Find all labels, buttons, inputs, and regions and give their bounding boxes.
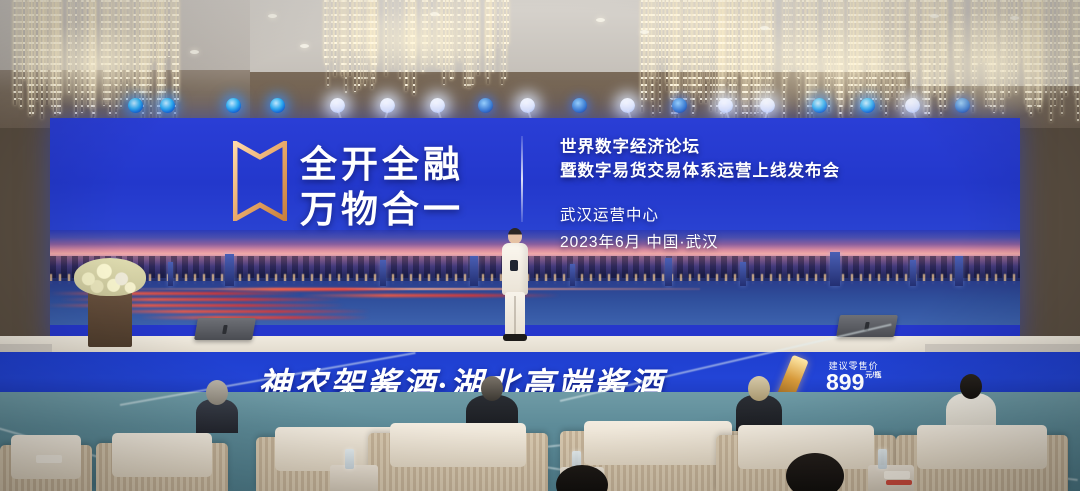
audience-member-head <box>748 376 770 401</box>
moving-head-light <box>128 98 143 113</box>
lighting-truss <box>0 96 1080 120</box>
flower-arrangement <box>74 258 146 296</box>
building <box>740 262 746 286</box>
traffic-light-trail <box>210 288 410 291</box>
building <box>470 256 478 286</box>
stage-monitor-left <box>194 318 256 340</box>
vertical-divider <box>521 136 523 222</box>
ceiling-slab-left <box>0 0 258 70</box>
led-wall-cityscape <box>50 230 1020 325</box>
event-title-line-1: 世界数字经济论坛 <box>560 136 840 160</box>
audience-member-head <box>960 374 982 399</box>
downlight-icon <box>930 14 939 18</box>
chair-headrest-cover <box>390 423 527 467</box>
price-value-row: 899元/瓶 <box>826 372 881 394</box>
downlight-icon <box>1010 16 1019 20</box>
downlight-icon <box>300 44 309 48</box>
event-date-place: 2023年6月 中国·武汉 <box>560 231 840 256</box>
audience-chair <box>896 435 1068 491</box>
building <box>830 252 840 286</box>
gold-geometric-logo-icon <box>233 141 287 221</box>
downlight-icon <box>268 14 277 18</box>
moving-head-light <box>478 98 493 113</box>
moving-head-light <box>226 98 241 113</box>
event-title-line-2: 暨数字易货交易体系运营上线发布会 <box>560 160 840 184</box>
led-video-wall <box>50 118 1020 345</box>
presenter <box>498 228 532 343</box>
microphone-icon <box>510 260 518 271</box>
building <box>225 254 234 286</box>
presenter-head <box>508 228 522 244</box>
downlight-icon <box>430 12 439 16</box>
audience-chair <box>0 445 92 491</box>
led-wall-upper-blue <box>50 118 1020 236</box>
moving-head-light <box>812 98 827 113</box>
building <box>380 260 386 286</box>
downlight-icon <box>760 26 769 30</box>
conference-stage-scene: 全开全融 万物合一 世界数字经济论坛 暨数字易货交易体系运营上线发布会 武汉运营… <box>0 0 1080 491</box>
moving-head-light <box>955 98 970 113</box>
moving-head-light <box>672 98 687 113</box>
building <box>955 256 963 286</box>
slogan-line-2: 万物合一 <box>300 187 464 232</box>
side-table <box>330 465 378 491</box>
building <box>570 264 575 286</box>
traffic-light-trail <box>90 310 370 313</box>
presenter-shoes <box>503 334 527 341</box>
audience-chair <box>368 433 548 491</box>
ceiling-slab-center <box>250 0 890 82</box>
event-center: 武汉运营中心 <box>560 204 840 229</box>
building <box>910 260 916 286</box>
ceiling-slab-right <box>884 0 1080 86</box>
audience-chair <box>96 443 228 491</box>
downlight-icon <box>190 50 199 54</box>
water-bottle <box>878 449 887 469</box>
main-slogan: 全开全融 万物合一 <box>300 142 464 232</box>
water-bottle <box>345 449 354 469</box>
downlight-icon <box>596 18 605 22</box>
building <box>665 258 672 286</box>
price-callout: 建议零售价 899元/瓶 <box>826 359 881 394</box>
audience-member-head <box>206 380 228 405</box>
moving-head-light <box>860 98 875 113</box>
chair-headrest-cover <box>584 421 733 465</box>
chair-headrest-cover <box>917 425 1048 469</box>
presenter-legs <box>505 292 525 336</box>
moving-head-light <box>160 98 175 113</box>
audience-seating <box>0 392 1080 491</box>
notepad <box>884 471 910 479</box>
moving-head-light <box>572 98 587 113</box>
notepad <box>36 455 62 463</box>
downlight-icon <box>640 30 649 34</box>
notepad <box>886 480 912 485</box>
chair-headrest-cover <box>112 433 212 477</box>
price-unit: 元/瓶 <box>865 372 881 380</box>
building <box>168 262 173 286</box>
slogan-line-1: 全开全融 <box>300 142 464 187</box>
moving-head-light <box>270 98 285 113</box>
event-info-block: 世界数字经济论坛 暨数字易货交易体系运营上线发布会 武汉运营中心 2023年6月… <box>560 136 840 255</box>
audience-member-head <box>481 376 503 401</box>
audience-member-head <box>786 453 844 491</box>
